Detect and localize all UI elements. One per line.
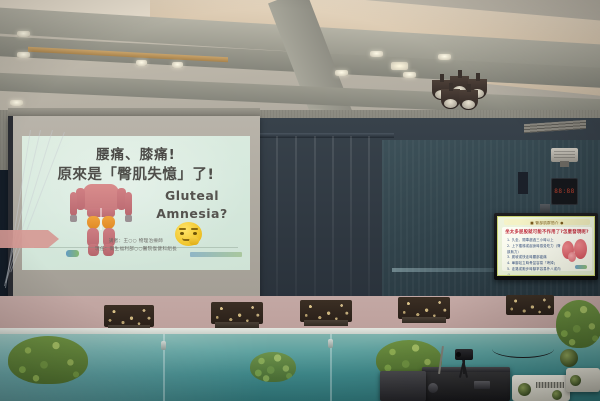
lecture-hall-photo: 88:88 腰痛、膝痛! 原來是「臀肌失憶」了! Gluteal Amnesia… bbox=[0, 0, 600, 401]
list-item: 5. 走路或跑步時腳掌容易外八或內八 bbox=[507, 267, 561, 276]
monitor-bullet-list: 1. 久坐、開車超過三小時以上 2. 上下樓梯或起身時感覺吃力（臀部無力） 3.… bbox=[507, 238, 561, 276]
chair bbox=[300, 300, 352, 322]
wall-clock: 88:88 bbox=[551, 178, 578, 205]
clock-digits: 88:88 bbox=[552, 188, 577, 195]
decorative-plant bbox=[8, 336, 88, 384]
downlight-icon bbox=[438, 54, 451, 60]
monitor-anatomy-image bbox=[561, 237, 589, 263]
chair bbox=[506, 295, 554, 315]
slide-english-line-1: Gluteal bbox=[142, 188, 242, 203]
downlight-icon bbox=[172, 62, 183, 68]
monitor-slide-title: 坐太多屁股就可能不作用了?怎麼發現呢? bbox=[502, 229, 592, 235]
wall-plate bbox=[518, 172, 528, 194]
list-item: 4. 單腳站立時骨盆容易「垮掉」 bbox=[507, 261, 561, 267]
slide-title-line-2: 原來是「臀肌失憶」了! bbox=[22, 163, 250, 184]
downlight-icon bbox=[403, 72, 416, 78]
chair bbox=[398, 297, 450, 319]
downlight-icon bbox=[17, 52, 30, 58]
chair bbox=[211, 302, 263, 324]
downlight-icon bbox=[17, 31, 30, 37]
projector-secondary bbox=[566, 368, 600, 392]
camera-lens bbox=[560, 349, 578, 367]
monitor-footer-logo bbox=[575, 265, 587, 269]
chair-base bbox=[402, 317, 446, 323]
downlight-icon bbox=[335, 70, 348, 76]
projected-slide: 腰痛、膝痛! 原來是「臀肌失憶」了! Gluteal Amnesia? bbox=[22, 136, 250, 270]
downlight-icon bbox=[391, 62, 408, 70]
pink-arrow-overlay bbox=[0, 230, 48, 248]
decorative-plant bbox=[250, 352, 296, 382]
speaker-mount bbox=[560, 161, 569, 167]
monitor-slide-body: 坐太多屁股就可能不作用了?怎麼發現呢? 1. 久坐、開車超過三小時以上 2. 上… bbox=[502, 227, 592, 271]
wall-speaker bbox=[551, 148, 578, 162]
equipment-case-secondary bbox=[380, 371, 426, 401]
institution-logo-right bbox=[190, 252, 242, 257]
downlight-icon bbox=[370, 51, 383, 57]
list-item: 1. 久坐、開車超過三小時以上 bbox=[507, 238, 561, 244]
stage-panel-bolt bbox=[161, 341, 166, 350]
monitor-slide-header: ■ 臀部肌群簡介 ● bbox=[504, 219, 590, 225]
monitor-header-text: ■ 臀部肌群簡介 ● bbox=[504, 221, 590, 226]
slide-english-line-2: Amnesia? bbox=[134, 206, 250, 221]
chair-base bbox=[304, 320, 348, 326]
downlight-icon bbox=[10, 100, 23, 106]
cable bbox=[492, 340, 554, 358]
tripod-leg bbox=[463, 360, 465, 374]
institution-logo-left bbox=[66, 250, 79, 257]
list-item: 2. 上下樓梯或起身時感覺吃力（臀部無力） bbox=[507, 244, 561, 256]
decorative-plant bbox=[556, 300, 600, 348]
wall-monitor-screen: ■ 臀部肌群簡介 ● 坐太多屁股就可能不作用了?怎麼發現呢? 1. 久坐、開車超… bbox=[497, 216, 595, 276]
stage-panel-bolt bbox=[328, 339, 333, 348]
projector bbox=[512, 375, 570, 401]
video-camera-icon bbox=[455, 349, 473, 360]
chair bbox=[104, 305, 154, 327]
downlight-icon bbox=[136, 60, 147, 66]
